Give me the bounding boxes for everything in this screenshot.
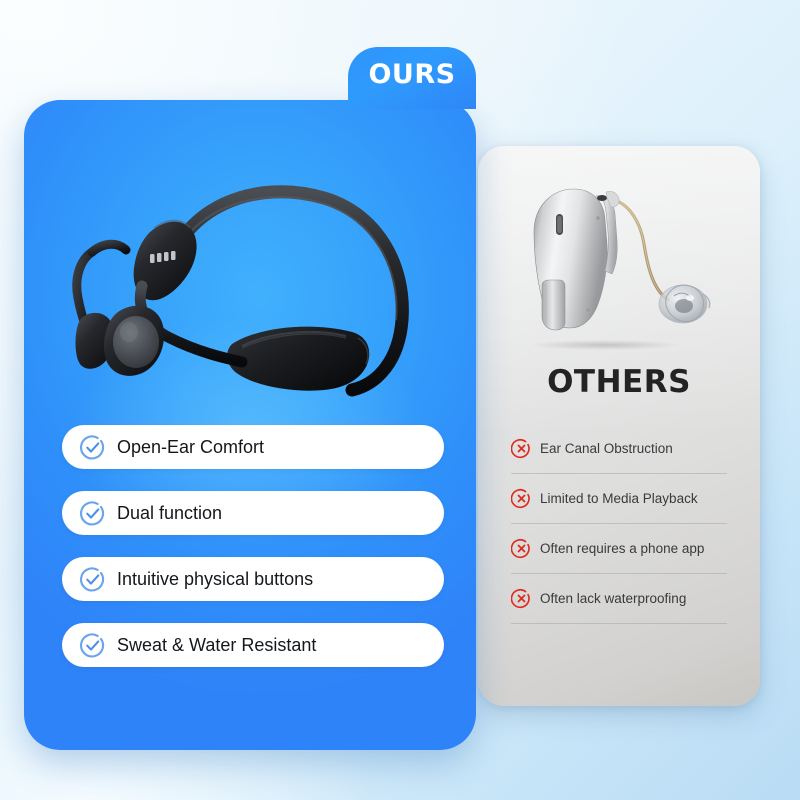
open-ear-headphones-illustration xyxy=(46,162,454,422)
list-item-label: Often lack waterproofing xyxy=(540,591,686,606)
feature-pill: Sweat & Water Resistant xyxy=(62,623,444,667)
others-title: OTHERS xyxy=(478,364,760,400)
check-circle-icon xyxy=(79,434,106,461)
list-item-label: Ear Canal Obstruction xyxy=(540,441,673,456)
list-item: Often lack waterproofing xyxy=(511,574,727,624)
ours-feature-list: Open-Ear Comfort Dual function Intuitive… xyxy=(62,425,444,667)
ours-card: Open-Ear Comfort Dual function Intuitive… xyxy=(24,100,476,750)
list-item: Ear Canal Obstruction xyxy=(511,424,727,474)
feature-pill: Dual function xyxy=(62,491,444,535)
feature-pill: Open-Ear Comfort xyxy=(62,425,444,469)
others-drawback-list: Ear Canal Obstruction Limited to Media P… xyxy=(511,424,727,624)
x-circle-icon xyxy=(511,538,532,559)
feature-label: Sweat & Water Resistant xyxy=(117,635,316,656)
hearing-aid-image xyxy=(478,170,760,350)
feature-label: Intuitive physical buttons xyxy=(117,569,313,590)
x-circle-icon xyxy=(511,438,532,459)
x-circle-icon xyxy=(511,488,532,509)
check-circle-icon xyxy=(79,632,106,659)
feature-label: Open-Ear Comfort xyxy=(117,437,264,458)
ours-tab[interactable]: OURS xyxy=(348,47,476,109)
ours-tab-label: OURS xyxy=(368,59,455,90)
hearing-aid-shadow xyxy=(500,338,710,352)
feature-pill: Intuitive physical buttons xyxy=(62,557,444,601)
feature-label: Dual function xyxy=(117,503,222,524)
others-card: OTHERS Ear Canal Obstruction Limited to … xyxy=(478,146,760,706)
x-circle-icon xyxy=(511,588,532,609)
list-item-label: Limited to Media Playback xyxy=(540,491,698,506)
check-circle-icon xyxy=(79,500,106,527)
headphones-image xyxy=(46,162,454,422)
hearing-aid-illustration xyxy=(478,170,760,350)
list-item: Limited to Media Playback xyxy=(511,474,727,524)
list-item-label: Often requires a phone app xyxy=(540,541,704,556)
check-circle-icon xyxy=(79,566,106,593)
list-item: Often requires a phone app xyxy=(511,524,727,574)
